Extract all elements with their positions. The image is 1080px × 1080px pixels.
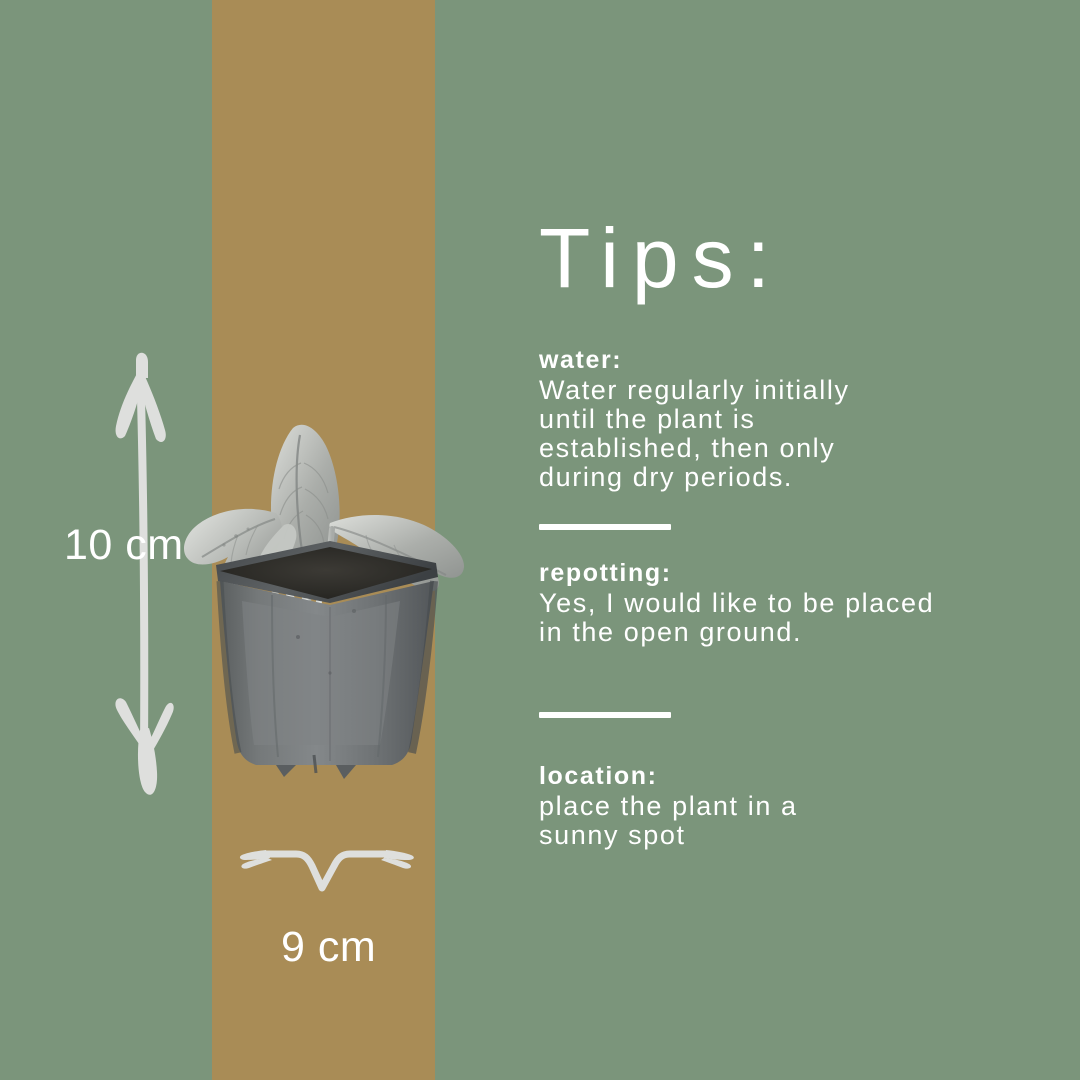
tip-label-repotting: repotting: xyxy=(539,559,1039,589)
potted-plant-photo xyxy=(180,405,480,795)
tip-section-repotting: repotting: Yes, I would like to be place… xyxy=(539,559,1039,647)
spacer-after-divider-2 xyxy=(539,718,1039,762)
height-measurement-label: 10 cm xyxy=(64,524,184,567)
tip-section-water: water: Water regularly initially until t… xyxy=(539,346,1039,492)
spacer-after-divider-1 xyxy=(539,530,1039,559)
width-measurement-label: 9 cm xyxy=(281,926,376,969)
tip-label-water: water: xyxy=(539,346,1039,376)
tips-panel: Tips: water: Water regularly initially u… xyxy=(539,214,1039,850)
tips-heading: Tips: xyxy=(539,214,1039,302)
spacer-after-water xyxy=(539,492,1039,524)
tip-label-location: location: xyxy=(539,762,1039,792)
double-headed-horizontal-arrow-icon xyxy=(238,838,418,900)
tip-section-location: location: place the plant in a sunny spo… xyxy=(539,762,1039,850)
tip-body-location: place the plant in a sunny spot xyxy=(539,792,1039,850)
infographic-canvas: 10 cm 9 cm Tips: water: Water regularly … xyxy=(0,0,1080,1080)
tip-body-repotting: Yes, I would like to be placed in the op… xyxy=(539,589,1039,647)
double-headed-vertical-arrow-icon xyxy=(92,340,212,820)
tip-body-water: Water regularly initially until the plan… xyxy=(539,376,1039,493)
spacer-after-repotting xyxy=(539,647,1039,712)
